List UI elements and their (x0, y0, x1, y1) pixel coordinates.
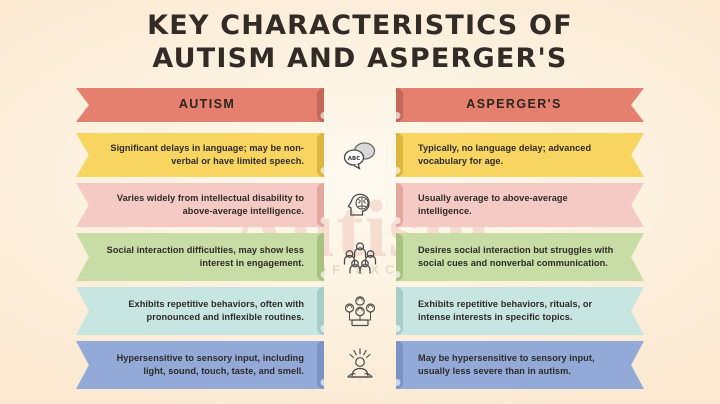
header-label-aspergers: ASPERGER'S (466, 96, 561, 114)
header-ribbon-aspergers: ASPERGER'S (396, 88, 644, 122)
aspergers-text-intelligence: Usually average to above-average intelli… (418, 192, 624, 218)
comparison-rows: AUTISM ASPERGER'S Significant delays in … (0, 88, 720, 389)
autism-ribbon-repetitive: Exhibits repetitive behaviors, often wit… (76, 287, 324, 335)
aspergers-ribbon-social: Desires social interaction but struggles… (396, 233, 644, 281)
repetitive-routine-icon (343, 295, 377, 327)
autism-text-intelligence: Varies widely from intellectual disabili… (98, 192, 304, 218)
header-ribbon-autism: AUTISM (76, 88, 324, 122)
autism-ribbon-social: Social interaction difficulties, may sho… (76, 233, 324, 281)
autism-text-repetitive: Exhibits repetitive behaviors, often wit… (98, 298, 304, 324)
autism-text-language: Significant delays in language; may be n… (98, 142, 304, 168)
aspergers-ribbon-sensory: May be hypersensitive to sensory input, … (396, 341, 644, 389)
icon-cell-language: ABC (324, 133, 396, 177)
sensory-person-icon (344, 348, 376, 382)
page-title: KEY CHARACTERISTICS OF AUTISM AND ASPERG… (0, 10, 720, 76)
row-sensory: Hypersensitive to sensory input, includi… (0, 341, 720, 389)
speech-bubbles-abc-icon: ABC (341, 139, 379, 171)
title-line-1: KEY CHARACTERISTICS OF (0, 10, 720, 43)
aspergers-text-social: Desires social interaction but struggles… (418, 244, 624, 270)
header-row: AUTISM ASPERGER'S (0, 88, 720, 122)
row-social: Social interaction difficulties, may sho… (0, 233, 720, 281)
icon-cell-repetitive (324, 287, 396, 335)
aspergers-ribbon-intelligence: Usually average to above-average intelli… (396, 183, 644, 227)
title-line-2: AUTISM AND ASPERGER'S (0, 43, 720, 76)
aspergers-ribbon-repetitive: Exhibits repetitive behaviors, rituals, … (396, 287, 644, 335)
autism-ribbon-sensory: Hypersensitive to sensory input, includi… (76, 341, 324, 389)
icon-cell-sensory (324, 341, 396, 389)
row-language: Significant delays in language; may be n… (0, 133, 720, 177)
header-label-autism: AUTISM (179, 96, 235, 114)
infographic-canvas: Autism CENTER OF EXCELLENCE KEY CHARACTE… (0, 0, 720, 404)
autism-text-social: Social interaction difficulties, may sho… (98, 244, 304, 270)
aspergers-text-sensory: May be hypersensitive to sensory input, … (418, 352, 624, 378)
aspergers-ribbon-language: Typically, no language delay; advanced v… (396, 133, 644, 177)
group-people-icon (343, 240, 377, 274)
header-center-spacer (324, 88, 396, 122)
aspergers-text-language: Typically, no language delay; advanced v… (418, 142, 624, 168)
autism-ribbon-intelligence: Varies widely from intellectual disabili… (76, 183, 324, 227)
row-repetitive: Exhibits repetitive behaviors, often wit… (0, 287, 720, 335)
autism-ribbon-language: Significant delays in language; may be n… (76, 133, 324, 177)
abc-icon-label: ABC (348, 156, 361, 162)
row-intelligence: Varies widely from intellectual disabili… (0, 183, 720, 227)
aspergers-text-repetitive: Exhibits repetitive behaviors, rituals, … (418, 298, 624, 324)
head-brain-icon (344, 189, 376, 221)
autism-text-sensory: Hypersensitive to sensory input, includi… (98, 352, 304, 378)
icon-cell-intelligence (324, 183, 396, 227)
icon-cell-social (324, 233, 396, 281)
